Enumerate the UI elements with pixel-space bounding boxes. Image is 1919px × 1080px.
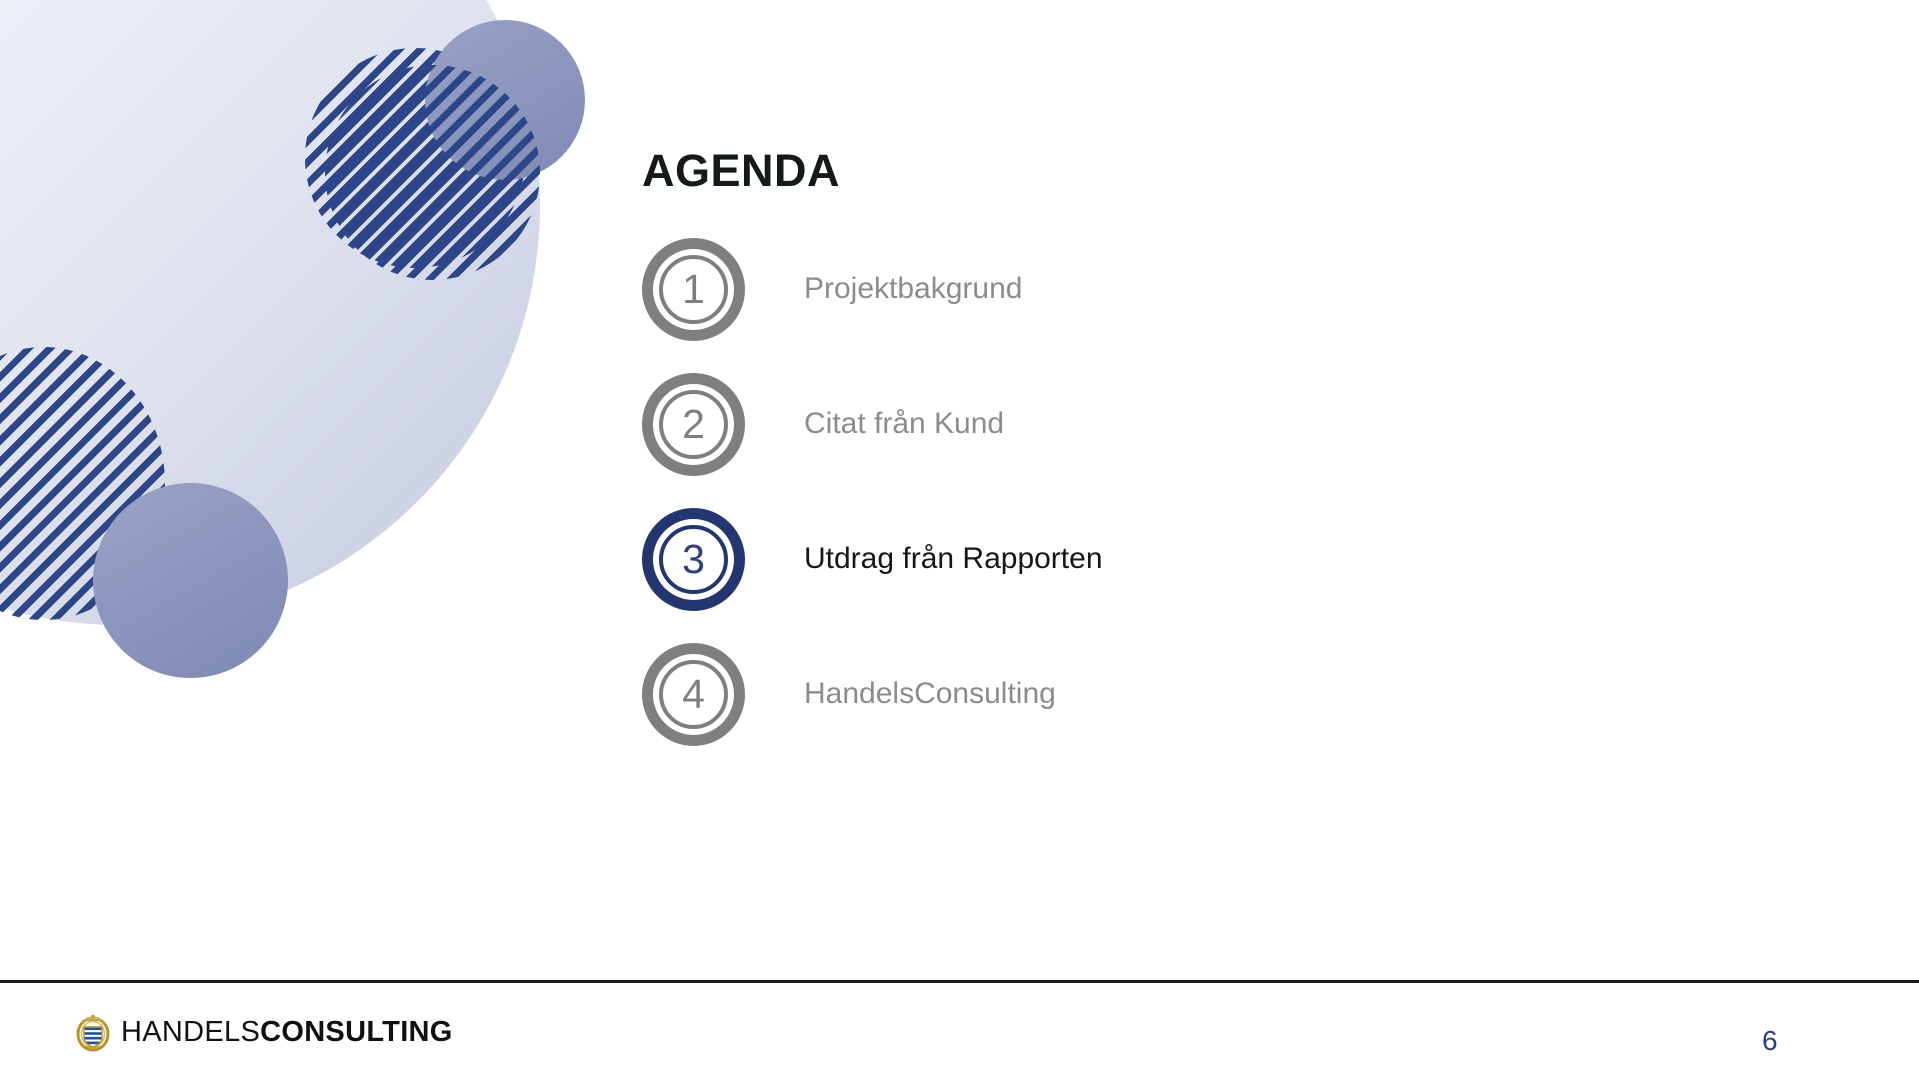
agenda-item-label-4: HandelsConsulting [804, 677, 1056, 711]
brand-logo: HANDELSCONSULTING [74, 1011, 453, 1053]
agenda-item-label-1: Projektbakgrund [804, 272, 1022, 306]
handelshogskolan-crest-icon [74, 1012, 112, 1052]
agenda-item-4[interactable]: 4 HandelsConsulting [642, 631, 1642, 757]
pale-gradient-circle-decoration [0, 0, 540, 625]
agenda-number-badge-1: 1 [642, 238, 745, 341]
agenda-number-label-3: 3 [682, 539, 705, 580]
striped-circle-top-decoration [305, 48, 525, 268]
agenda-item-label-3: Utdrag från Rapporten [804, 542, 1103, 576]
agenda-number-badge-4: 4 [642, 643, 745, 746]
agenda-number-label-4: 4 [682, 674, 705, 715]
agenda-number-label-2: 2 [682, 404, 705, 445]
agenda-number-badge-2: 2 [642, 373, 745, 476]
presentation-slide: AGENDA 1 Projektbakgrund 2 Citat från Ku… [0, 0, 1919, 1080]
striped-circle-middle-decoration [325, 65, 540, 280]
solid-circle-top-decoration [425, 20, 585, 180]
agenda-item-3[interactable]: 3 Utdrag från Rapporten [642, 496, 1642, 622]
agenda-item-2[interactable]: 2 Citat från Kund [642, 361, 1642, 487]
brand-wordmark: HANDELSCONSULTING [121, 1018, 453, 1047]
agenda-item-label-2: Citat från Kund [804, 407, 1004, 441]
brand-wordmark-bold: CONSULTING [260, 1016, 453, 1048]
footer-divider [0, 980, 1919, 983]
agenda-list: 1 Projektbakgrund 2 Citat från Kund 3 Ut… [642, 226, 1642, 766]
agenda-item-1[interactable]: 1 Projektbakgrund [642, 226, 1642, 352]
striped-circle-bottom-decoration [0, 347, 165, 620]
brand-wordmark-light: HANDELS [121, 1016, 260, 1048]
solid-circle-bottom-decoration [93, 483, 288, 678]
page-title: AGENDA [642, 148, 840, 193]
agenda-number-badge-3: 3 [642, 508, 745, 611]
page-number: 6 [1762, 1027, 1778, 1055]
agenda-number-label-1: 1 [682, 269, 705, 310]
